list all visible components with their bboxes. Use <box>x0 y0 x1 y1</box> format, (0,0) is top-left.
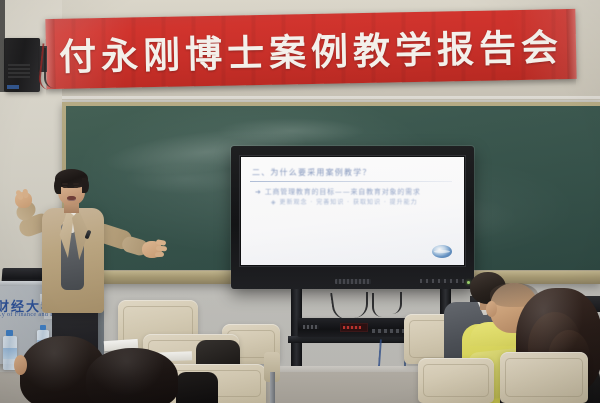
presenter-eyebrow <box>62 183 68 185</box>
presenter-right-finger <box>155 252 164 258</box>
presenter-hair-side <box>82 178 89 193</box>
audience-man-yellow-ear <box>486 301 497 317</box>
presenter-mouth <box>67 196 76 201</box>
presenter-eyebrow <box>73 183 79 185</box>
presenter-eye <box>74 186 78 188</box>
av-brand-badge <box>303 325 319 329</box>
wall-seam <box>0 96 600 99</box>
chalk-smudge <box>216 118 366 144</box>
display-brand-logo <box>335 279 371 284</box>
cart-leg-inner <box>0 0 5 92</box>
banner-title-text: 付永刚博士案例教学报告会 <box>45 9 576 89</box>
speaker-badge <box>7 85 19 89</box>
slide-bullet-1: ➜ 工商管理教育的目标——来自教育对象的需求 <box>255 187 454 197</box>
water-bottle-cap <box>6 330 13 336</box>
display-screen-frame: 二、为什么要采用案例教学？ ➜ 工商管理教育的目标——来自教育对象的需求 ◈ 更… <box>239 155 466 267</box>
slide-divider <box>250 181 452 182</box>
audience-background-shoulder <box>196 340 240 364</box>
chair[interactable] <box>500 352 588 403</box>
display-control-buttons[interactable] <box>420 279 464 283</box>
chalk-smudge <box>126 164 246 194</box>
speaker-cable-black <box>44 48 56 88</box>
av-display-panel <box>340 323 368 332</box>
presenter-hair-side <box>54 178 61 194</box>
presenter-eye <box>63 186 67 188</box>
wall-speaker-icon <box>4 38 40 92</box>
cable <box>372 293 384 317</box>
presentation-slide: 二、为什么要采用案例教学？ ➜ 工商管理教育的目标——来自教育对象的需求 ◈ 更… <box>241 157 464 265</box>
chair[interactable] <box>418 358 494 403</box>
audience-foreground-center-head <box>86 348 178 403</box>
presenter-right-finger <box>156 246 167 252</box>
globe-logo-icon <box>432 245 452 258</box>
audience-foreground-dark-clothing <box>176 372 218 403</box>
event-banner: 付永刚博士案例教学报告会 <box>45 9 576 89</box>
chair-post <box>270 372 275 403</box>
speaker-grill <box>8 64 30 78</box>
water-bottle-cap <box>40 325 46 330</box>
interactive-display[interactable]: 二、为什么要采用案例教学？ ➜ 工商管理教育的目标——来自教育对象的需求 ◈ 更… <box>231 146 474 289</box>
slide-title: 二、为什么要采用案例教学？ <box>252 167 450 178</box>
lecture-hall-photo: 付永刚博士案例教学报告会 二、为什么要采用案例教学？ ➜ 工商管理教育的目标——… <box>0 0 600 403</box>
slide-bullet-2: ◈ 更新观念 · 完善知识 · 获取知识 · 提升能力 <box>271 197 456 206</box>
audience-foreground-left-ear <box>14 355 27 375</box>
presenter-left-finger <box>22 189 28 199</box>
